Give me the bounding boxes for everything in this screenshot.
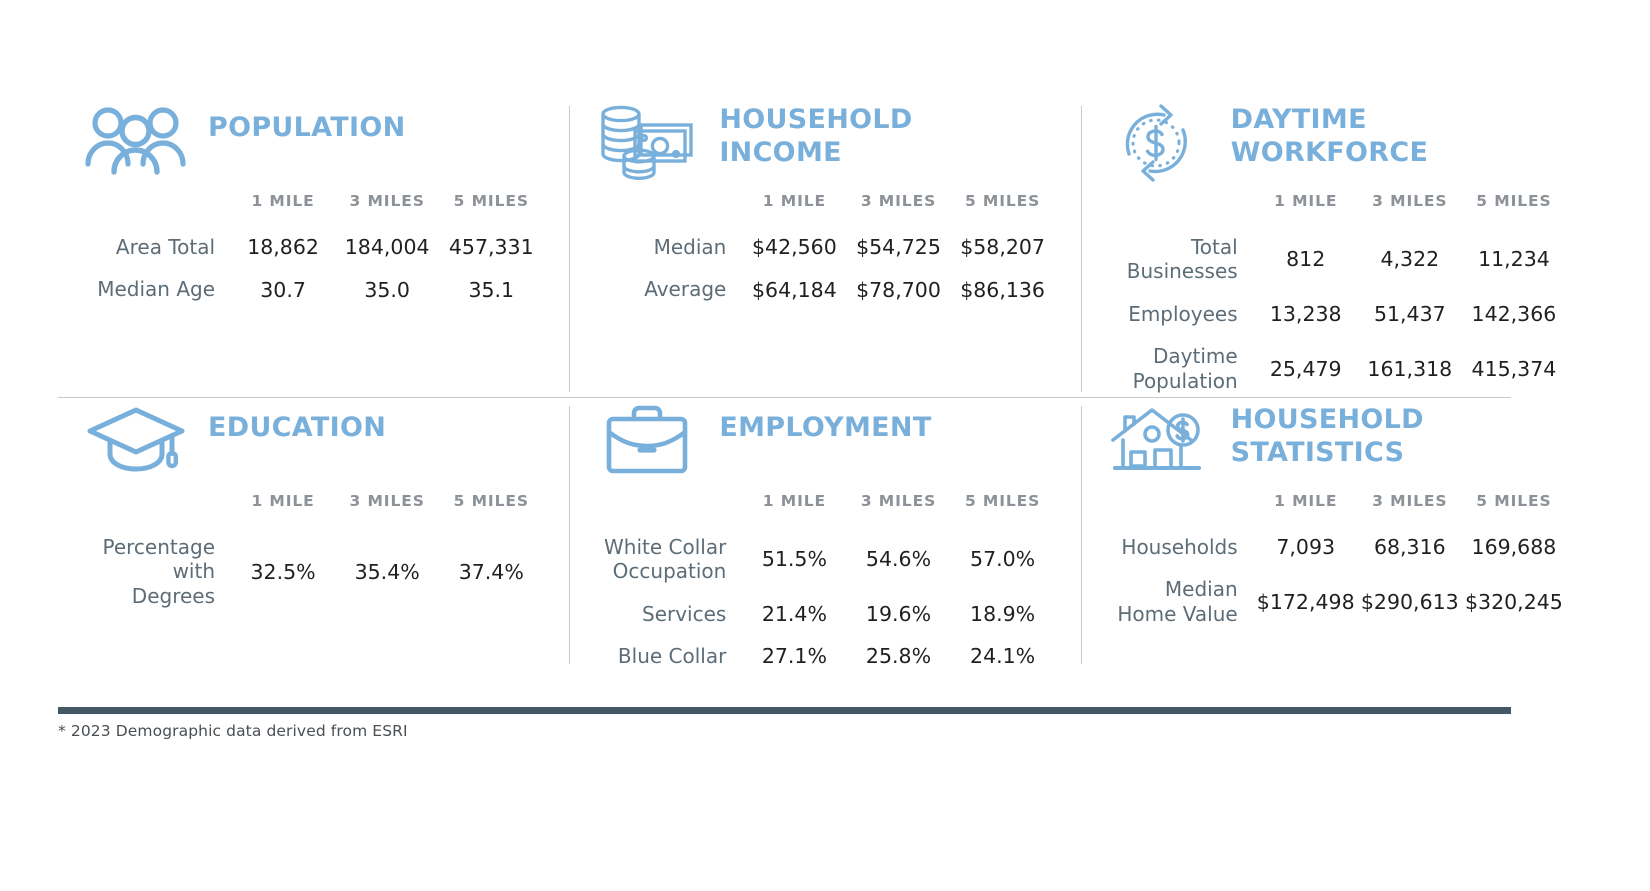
- row-value: 35.1: [439, 268, 543, 310]
- column-header-row: 1 MILE 3 MILES 5 MILES: [84, 192, 543, 226]
- table-row: Daytime Population 25,479 161,318 415,37…: [1107, 335, 1566, 402]
- row-label: Daytime Population: [1107, 335, 1254, 402]
- column-header-row: 1 MILE 3 MILES 5 MILES: [595, 492, 1054, 526]
- row-value: 57.0%: [951, 526, 1055, 593]
- row-value: 457,331: [439, 226, 543, 268]
- column-header-1-mile: 1 MILE: [1254, 192, 1358, 226]
- table-row: Total Businesses 812 4,322 11,234: [1107, 226, 1566, 293]
- label-column-header: [595, 492, 742, 526]
- row-value: 19.6%: [846, 593, 950, 635]
- row-value: 30.7: [231, 268, 335, 310]
- panel-header: POPULATION: [84, 98, 543, 190]
- column-header-1-mile: 1 MILE: [231, 192, 335, 226]
- column-header-row: 1 MILE 3 MILES 5 MILES: [1107, 492, 1566, 526]
- demographics-infographic: POPULATION 1 MILE 3 MILES 5 MILES Area T…: [0, 0, 1650, 891]
- row-value: 18.9%: [951, 593, 1055, 635]
- panel-household-statistics: HOUSEHOLD STATISTICS 1 MILE 3 MILES 5 MI…: [1081, 398, 1592, 670]
- row-value: 68,316: [1358, 526, 1462, 568]
- panel-header: HOUSEHOLD INCOME: [595, 98, 1054, 190]
- panel-title: HOUSEHOLD STATISTICS: [1231, 398, 1424, 470]
- row-label: Services: [595, 593, 742, 635]
- people-icon: [84, 98, 188, 176]
- table-row: Percentage with Degrees 32.5% 35.4% 37.4…: [84, 526, 543, 617]
- row-value: 54.6%: [846, 526, 950, 593]
- row-value: 13,238: [1254, 293, 1358, 335]
- data-table: 1 MILE 3 MILES 5 MILES White Collar Occu…: [595, 492, 1054, 678]
- table-row: Median Home Value $172,498 $290,613 $320…: [1107, 568, 1566, 635]
- panel-title: POPULATION: [208, 98, 405, 145]
- row-value: $54,725: [846, 226, 950, 268]
- row-label: Average: [595, 268, 742, 310]
- table-row: Median Age 30.7 35.0 35.1: [84, 268, 543, 310]
- panel-daytime-workforce: DAYTIME WORKFORCE 1 MILE 3 MILES 5 MILES…: [1081, 98, 1592, 398]
- label-column-header: [1107, 192, 1254, 226]
- row-value: $78,700: [846, 268, 950, 310]
- panel-employment: EMPLOYMENT 1 MILE 3 MILES 5 MILES White …: [569, 398, 1080, 670]
- row-value: 24.1%: [951, 635, 1055, 677]
- row-value: 415,374: [1462, 335, 1566, 402]
- column-header-3-miles: 3 MILES: [846, 192, 950, 226]
- column-header-3-miles: 3 MILES: [1358, 492, 1462, 526]
- dollar-cycle-icon: [1107, 98, 1211, 184]
- row-value: 21.4%: [742, 593, 846, 635]
- row-value: 27.1%: [742, 635, 846, 677]
- column-header-1-mile: 1 MILE: [742, 192, 846, 226]
- table-row: Employees 13,238 51,437 142,366: [1107, 293, 1566, 335]
- label-column-header: [84, 492, 231, 526]
- column-header-5-miles: 5 MILES: [951, 492, 1055, 526]
- column-header-1-mile: 1 MILE: [742, 492, 846, 526]
- row-value: 18,862: [231, 226, 335, 268]
- column-header-row: 1 MILE 3 MILES 5 MILES: [84, 492, 543, 526]
- row-value: 161,318: [1358, 335, 1462, 402]
- label-column-header: [84, 192, 231, 226]
- row-value: 51.5%: [742, 526, 846, 593]
- row-value: 184,004: [335, 226, 439, 268]
- row-label: Median Home Value: [1107, 568, 1254, 635]
- row-value: 37.4%: [439, 526, 543, 617]
- row-value: 51,437: [1358, 293, 1462, 335]
- row-value: 32.5%: [231, 526, 335, 617]
- row-value: $64,184: [742, 268, 846, 310]
- table-row: Services 21.4% 19.6% 18.9%: [595, 593, 1054, 635]
- panel-population: POPULATION 1 MILE 3 MILES 5 MILES Area T…: [58, 98, 569, 398]
- column-header-3-miles: 3 MILES: [335, 492, 439, 526]
- panel-education: EDUCATION 1 MILE 3 MILES 5 MILES Percent…: [58, 398, 569, 670]
- column-header-3-miles: 3 MILES: [846, 492, 950, 526]
- panel-title: HOUSEHOLD INCOME: [719, 98, 912, 170]
- column-header-3-miles: 3 MILES: [335, 192, 439, 226]
- row-value: 35.0: [335, 268, 439, 310]
- column-header-3-miles: 3 MILES: [1358, 192, 1462, 226]
- house-dollar-icon: [1107, 398, 1211, 482]
- label-column-header: [1107, 492, 1254, 526]
- row-label: Median Age: [84, 268, 231, 310]
- row-value: $42,560: [742, 226, 846, 268]
- row-value: 169,688: [1462, 526, 1566, 568]
- data-table: 1 MILE 3 MILES 5 MILES Median $42,560 $5…: [595, 192, 1054, 311]
- graduation-cap-icon: [84, 398, 188, 480]
- row-label: Blue Collar: [595, 635, 742, 677]
- row-value: 142,366: [1462, 293, 1566, 335]
- data-table: 1 MILE 3 MILES 5 MILES Total Businesses …: [1107, 192, 1566, 402]
- row-label: Area Total: [84, 226, 231, 268]
- data-table: 1 MILE 3 MILES 5 MILES Percentage with D…: [84, 492, 543, 617]
- data-table: 1 MILE 3 MILES 5 MILES Households 7,093 …: [1107, 492, 1566, 635]
- panel-header: HOUSEHOLD STATISTICS: [1107, 398, 1566, 490]
- data-table: 1 MILE 3 MILES 5 MILES Area Total 18,862…: [84, 192, 543, 311]
- column-header-row: 1 MILE 3 MILES 5 MILES: [1107, 192, 1566, 226]
- row-value: $320,245: [1462, 568, 1566, 635]
- table-row: Median $42,560 $54,725 $58,207: [595, 226, 1054, 268]
- column-header-5-miles: 5 MILES: [439, 492, 543, 526]
- row-value: $172,498: [1254, 568, 1358, 635]
- table-row: Blue Collar 27.1% 25.8% 24.1%: [595, 635, 1054, 677]
- panel-header: EDUCATION: [84, 398, 543, 490]
- row-label: Median: [595, 226, 742, 268]
- row-label: White Collar Occupation: [595, 526, 742, 593]
- row-label: Percentage with Degrees: [84, 526, 231, 617]
- row-value: 25,479: [1254, 335, 1358, 402]
- row-value: 35.4%: [335, 526, 439, 617]
- row-label: Total Businesses: [1107, 226, 1254, 293]
- row-label: Employees: [1107, 293, 1254, 335]
- footnote: * 2023 Demographic data derived from ESR…: [58, 722, 408, 740]
- row-value: 812: [1254, 226, 1358, 293]
- table-row: Households 7,093 68,316 169,688: [1107, 526, 1566, 568]
- column-header-1-mile: 1 MILE: [231, 492, 335, 526]
- panel-title: EMPLOYMENT: [719, 398, 931, 445]
- column-header-5-miles: 5 MILES: [439, 192, 543, 226]
- column-header-1-mile: 1 MILE: [1254, 492, 1358, 526]
- row-value: 25.8%: [846, 635, 950, 677]
- column-header-5-miles: 5 MILES: [1462, 492, 1566, 526]
- panel-household-income: HOUSEHOLD INCOME 1 MILE 3 MILES 5 MILES …: [569, 98, 1080, 398]
- row-label: Households: [1107, 526, 1254, 568]
- briefcase-icon: [595, 398, 699, 478]
- panel-title: EDUCATION: [208, 398, 386, 445]
- column-header-5-miles: 5 MILES: [1462, 192, 1566, 226]
- label-column-header: [595, 192, 742, 226]
- panel-header: DAYTIME WORKFORCE: [1107, 98, 1566, 190]
- footer-divider-bar: [58, 707, 1511, 714]
- table-row: White Collar Occupation 51.5% 54.6% 57.0…: [595, 526, 1054, 593]
- column-header-5-miles: 5 MILES: [951, 192, 1055, 226]
- panel-grid: POPULATION 1 MILE 3 MILES 5 MILES Area T…: [58, 98, 1592, 670]
- row-value: 7,093: [1254, 526, 1358, 568]
- panel-header: EMPLOYMENT: [595, 398, 1054, 490]
- row-value: 11,234: [1462, 226, 1566, 293]
- table-row: Average $64,184 $78,700 $86,136: [595, 268, 1054, 310]
- panel-title: DAYTIME WORKFORCE: [1231, 98, 1429, 170]
- row-value: $58,207: [951, 226, 1055, 268]
- row-value: $290,613: [1358, 568, 1462, 635]
- money-icon: [595, 98, 699, 182]
- row-value: 4,322: [1358, 226, 1462, 293]
- column-header-row: 1 MILE 3 MILES 5 MILES: [595, 192, 1054, 226]
- table-row: Area Total 18,862 184,004 457,331: [84, 226, 543, 268]
- row-value: $86,136: [951, 268, 1055, 310]
